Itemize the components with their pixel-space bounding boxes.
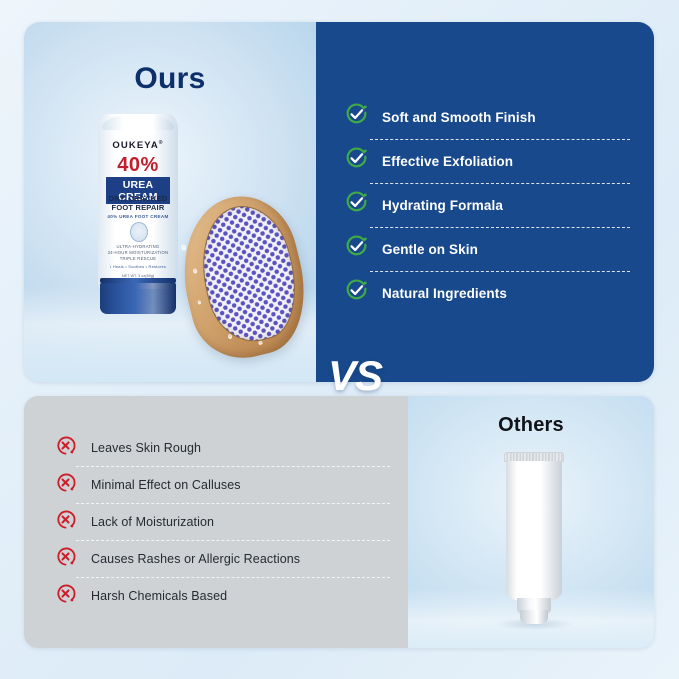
benefit-label: Hydrating Formala [382, 198, 503, 213]
benefit-label: Natural Ingredients [382, 286, 507, 301]
benefit-item: Effective Exfoliation [344, 140, 634, 183]
foot-emblem-icon [130, 222, 148, 242]
x-circle-icon [54, 508, 77, 536]
benefit-label: Soft and Smooth Finish [382, 110, 536, 125]
tube-body [506, 461, 562, 601]
cons-list-panel: Leaves Skin Rough Minimal Effect on Call… [24, 396, 408, 648]
vs-badge: VS [300, 345, 410, 407]
ours-title: Ours [24, 62, 316, 96]
check-circle-icon [344, 190, 369, 220]
benefit-item: Gentle on Skin [344, 228, 634, 271]
con-item: Causes Rashes or Allergic Reactions [54, 541, 392, 577]
ours-product-panel: Ours OUKEYA® 40% UREA CREAM DRY, CRACKED… [24, 22, 316, 382]
tube-cap [100, 282, 176, 314]
product-claims: ULTRA-HYDRATING 24-HOUR MOISTURIZATION T… [98, 244, 178, 262]
comparison-infographic: Ours OUKEYA® 40% UREA CREAM DRY, CRACKED… [0, 0, 679, 679]
con-item: Leaves Skin Rough [54, 430, 392, 466]
registered-mark-icon: ® [159, 140, 164, 146]
product-percent: 40% [98, 154, 178, 177]
others-title: Others [408, 414, 654, 437]
con-label: Causes Rashes or Allergic Reactions [91, 552, 300, 566]
benefit-label: Gentle on Skin [382, 242, 478, 257]
x-circle-icon [54, 545, 77, 573]
ours-section: Ours OUKEYA® 40% UREA CREAM DRY, CRACKED… [24, 22, 654, 382]
check-circle-icon [344, 278, 369, 308]
con-item: Harsh Chemicals Based [54, 578, 392, 614]
tube-cap [520, 610, 548, 624]
con-label: Lack of Moisturization [91, 515, 214, 529]
con-label: Harsh Chemicals Based [91, 589, 227, 603]
con-label: Leaves Skin Rough [91, 441, 201, 455]
benefits-list-panel: Soft and Smooth Finish Effective Exfolia… [316, 22, 654, 382]
con-item: Lack of Moisturization [54, 504, 392, 540]
x-circle-icon [54, 434, 77, 462]
generic-white-tube [503, 452, 565, 624]
tube-body: OUKEYA® 40% UREA CREAM DRY, CRACKED FOOT… [98, 114, 178, 289]
benefit-item: Soft and Smooth Finish [344, 96, 634, 139]
x-circle-icon [54, 582, 77, 610]
product-bullets: • Heals • Soothes • Restores [98, 264, 178, 269]
product-subtitle: DRY, CRACKED FOOT REPAIR [98, 194, 178, 212]
con-item: Minimal Effect on Calluses [54, 467, 392, 503]
tube-shoulder [102, 114, 174, 130]
others-section: Leaves Skin Rough Minimal Effect on Call… [24, 396, 654, 648]
check-circle-icon [344, 102, 369, 132]
x-circle-icon [54, 471, 77, 499]
others-product-panel: Others [408, 396, 654, 648]
product-brand: OUKEYA® [98, 140, 178, 151]
con-label: Minimal Effect on Calluses [91, 478, 241, 492]
benefit-item: Natural Ingredients [344, 272, 634, 315]
benefit-label: Effective Exfoliation [382, 154, 513, 169]
check-circle-icon [344, 146, 369, 176]
check-circle-icon [344, 234, 369, 264]
benefit-item: Hydrating Formala [344, 184, 634, 227]
